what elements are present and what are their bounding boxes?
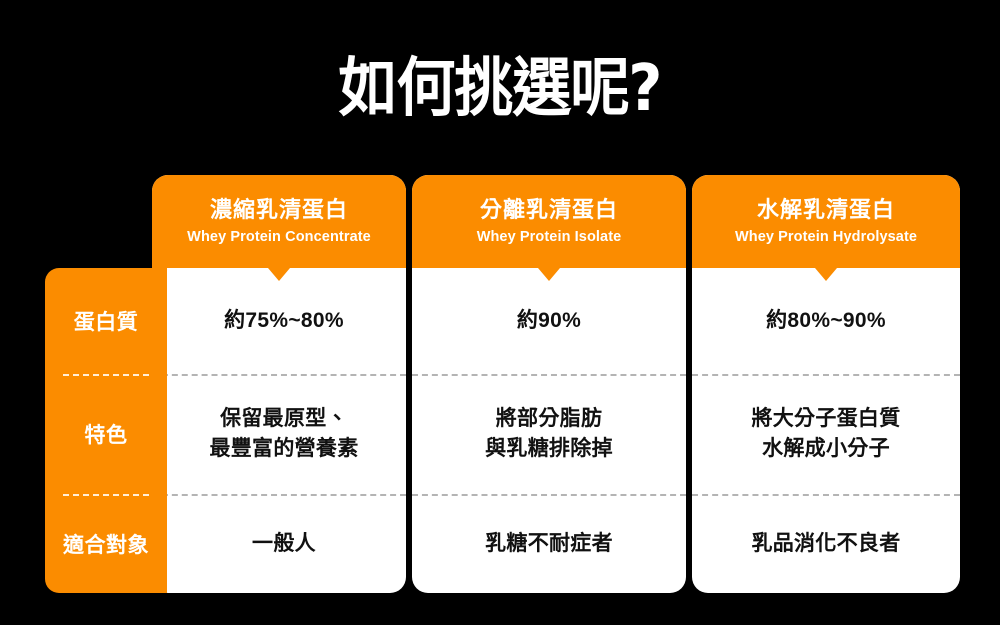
- row-label-feature: 特色: [45, 374, 167, 494]
- cell-audience: 乳糖不耐症者: [412, 494, 686, 593]
- comparison-card-isolate[interactable]: 分離乳清蛋白 Whey Protein Isolate 約90% 將部分脂肪與乳…: [412, 175, 686, 593]
- cell-protein: 約80%~90%: [692, 268, 960, 374]
- card-body: 約90% 將部分脂肪與乳糖排除掉 乳糖不耐症者: [412, 268, 686, 593]
- comparison-card-hydrolysate[interactable]: 水解乳清蛋白 Whey Protein Hydrolysate 約80%~90%…: [692, 175, 960, 593]
- card-header: 分離乳清蛋白 Whey Protein Isolate: [412, 175, 686, 268]
- cell-feature: 將大分子蛋白質水解成小分子: [692, 374, 960, 494]
- card-body: 約80%~90% 將大分子蛋白質水解成小分子 乳品消化不良者: [692, 268, 960, 593]
- card-title-zh: 水解乳清蛋白: [757, 195, 895, 225]
- row-label-protein: 蛋白質: [45, 268, 167, 374]
- row-label-rail: 蛋白質 特色 適合對象: [45, 268, 167, 593]
- card-title-zh: 濃縮乳清蛋白: [210, 195, 348, 225]
- row-label-divider: [63, 494, 149, 496]
- cell-audience: 一般人: [152, 494, 406, 593]
- card-title-zh: 分離乳清蛋白: [480, 195, 618, 225]
- card-title-en: Whey Protein Concentrate: [187, 226, 371, 248]
- card-header: 水解乳清蛋白 Whey Protein Hydrolysate: [692, 175, 960, 268]
- cell-audience: 乳品消化不良者: [692, 494, 960, 593]
- cell-feature: 將部分脂肪與乳糖排除掉: [412, 374, 686, 494]
- card-title-en: Whey Protein Hydrolysate: [735, 226, 917, 248]
- comparison-card-concentrate[interactable]: 濃縮乳清蛋白 Whey Protein Concentrate 約75%~80%…: [152, 175, 406, 593]
- card-header: 濃縮乳清蛋白 Whey Protein Concentrate: [152, 175, 406, 268]
- card-body: 約75%~80% 保留最原型、最豐富的營養素 一般人: [152, 268, 406, 593]
- row-label-audience: 適合對象: [45, 494, 167, 593]
- cell-feature: 保留最原型、最豐富的營養素: [152, 374, 406, 494]
- card-title-en: Whey Protein Isolate: [477, 226, 622, 248]
- cell-protein: 約75%~80%: [152, 268, 406, 374]
- comparison-table: 濃縮乳清蛋白 Whey Protein Concentrate 約75%~80%…: [0, 0, 1000, 625]
- row-label-divider: [63, 374, 149, 376]
- cell-protein: 約90%: [412, 268, 686, 374]
